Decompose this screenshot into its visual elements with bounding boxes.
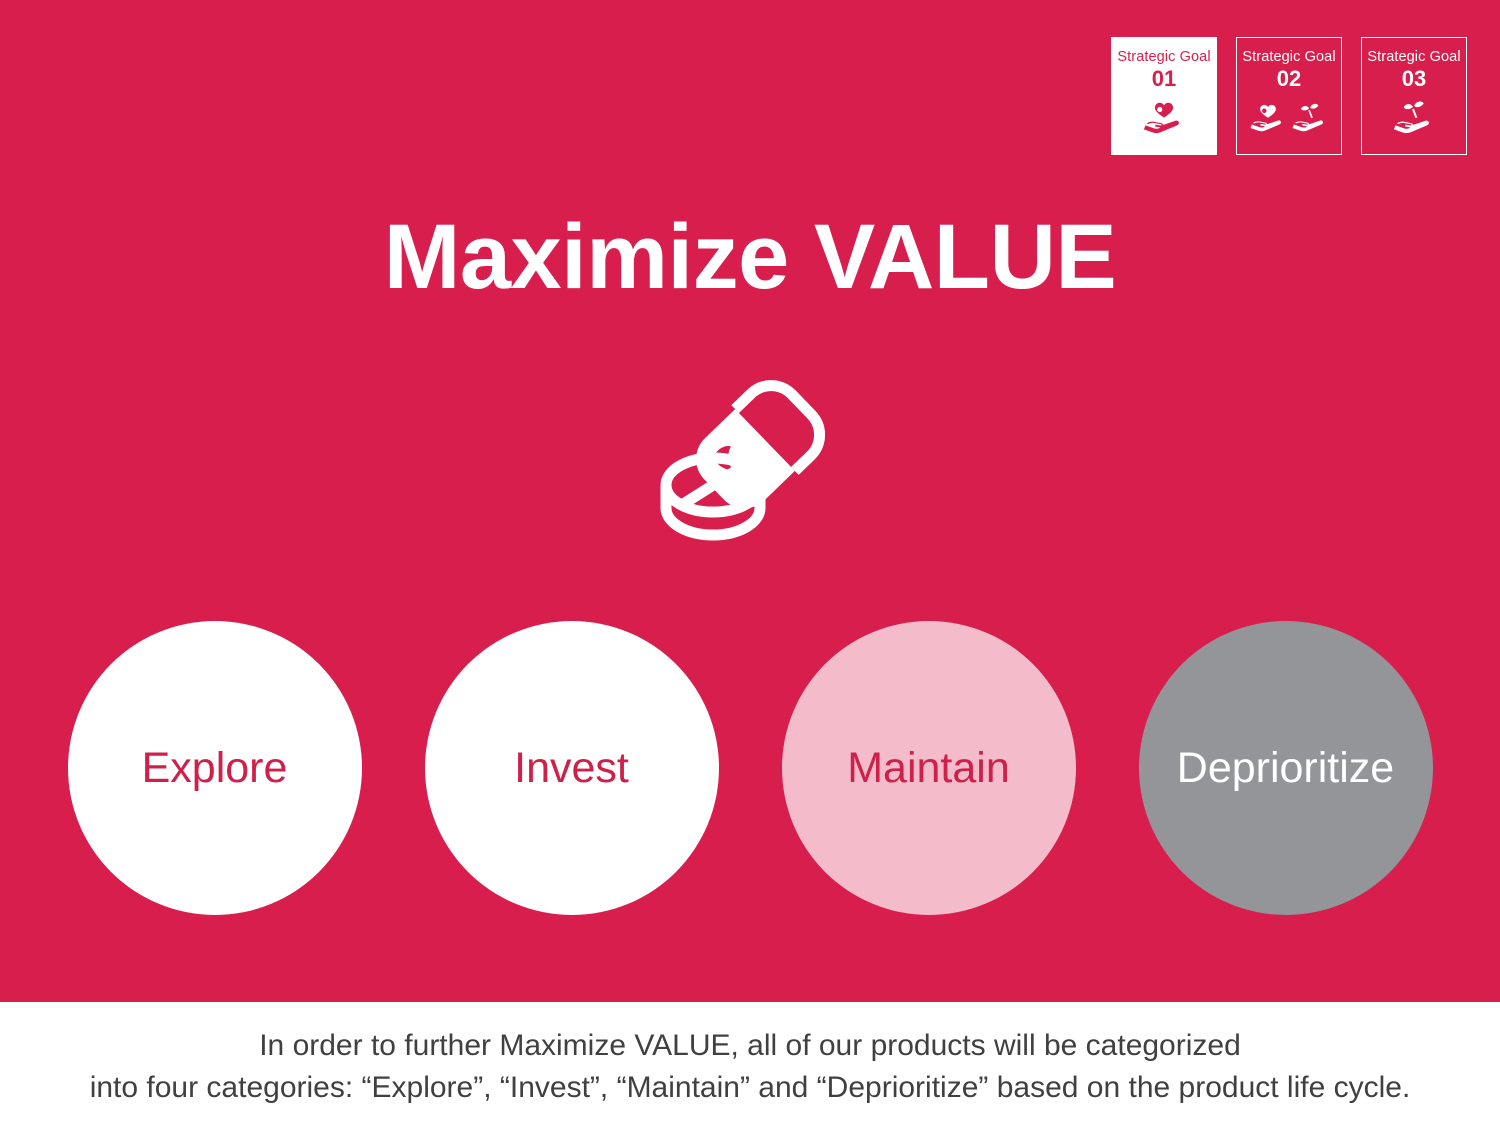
badge-icon-group — [1391, 97, 1437, 145]
badge-icon-group — [1141, 97, 1187, 145]
strategic-goal-badge-03[interactable]: Strategic Goal 03 — [1361, 37, 1467, 155]
category-circle-maintain[interactable]: Maintain — [782, 621, 1076, 915]
category-label: Deprioritize — [1177, 743, 1394, 793]
category-label: Maintain — [847, 743, 1010, 793]
heart-in-hand-icon — [1248, 99, 1288, 144]
strategic-goal-badge-02[interactable]: Strategic Goal 02 — [1236, 37, 1342, 155]
category-circle-invest[interactable]: Invest — [425, 621, 719, 915]
strategic-goal-badges: Strategic Goal 01 Strategic Goal 02 — [1111, 37, 1467, 155]
footer-caption-line-1: In order to further Maximize VALUE, all … — [259, 1025, 1241, 1067]
slide-root: Strategic Goal 01 Strategic Goal 02 — [0, 0, 1500, 1125]
badge-number: 03 — [1402, 66, 1426, 92]
footer-caption-line-2: into four categories: “Explore”, “Invest… — [90, 1067, 1411, 1109]
category-label: Invest — [514, 743, 629, 793]
category-circles: Explore Invest Maintain Deprioritize — [0, 621, 1500, 915]
footer-caption: In order to further Maximize VALUE, all … — [0, 1002, 1500, 1125]
category-label: Explore — [142, 743, 288, 793]
badge-label: Strategic Goal — [1242, 49, 1335, 65]
badge-number: 01 — [1152, 66, 1176, 92]
page-title: Maximize VALUE — [0, 203, 1500, 311]
strategic-goal-badge-01[interactable]: Strategic Goal 01 — [1111, 37, 1217, 155]
plant-in-hand-icon — [1290, 99, 1330, 144]
pill-capsule-tablet-icon — [655, 368, 845, 548]
badge-label: Strategic Goal — [1367, 49, 1460, 65]
heart-in-hand-icon — [1141, 96, 1187, 147]
category-circle-deprioritize[interactable]: Deprioritize — [1139, 621, 1433, 915]
badge-label: Strategic Goal — [1117, 49, 1210, 65]
plant-in-hand-icon — [1391, 96, 1437, 147]
badge-icon-group — [1248, 97, 1330, 145]
badge-number: 02 — [1277, 66, 1301, 92]
category-circle-explore[interactable]: Explore — [68, 621, 362, 915]
